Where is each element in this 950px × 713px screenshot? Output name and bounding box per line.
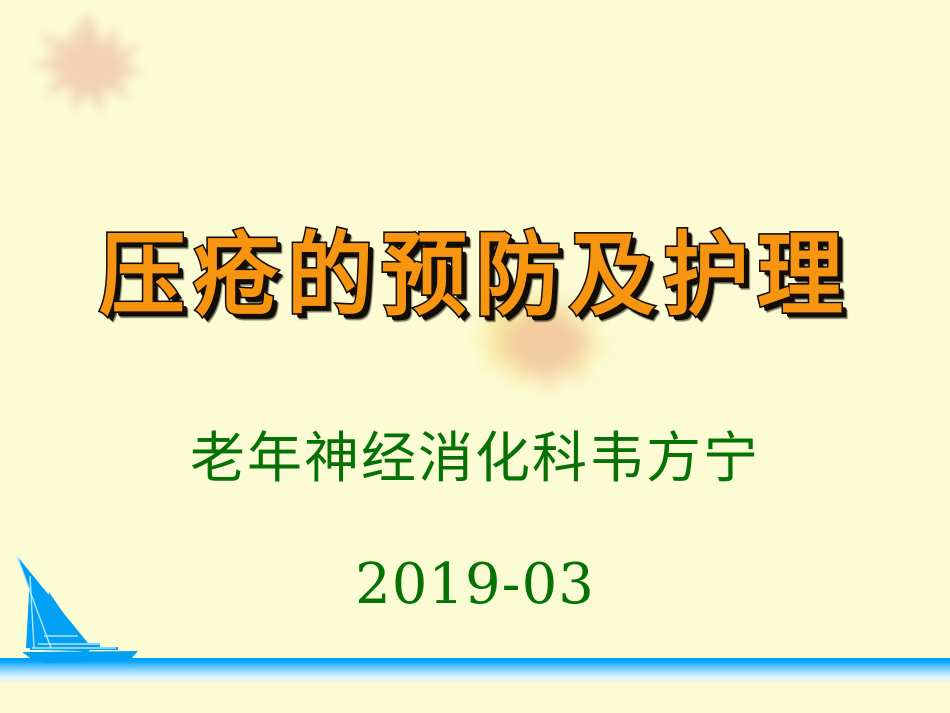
water-gradient-band bbox=[0, 658, 950, 684]
presentation-date: 2019-03 bbox=[355, 552, 595, 617]
presentation-slide: 压疮的预防及护理 老年神经消化科韦方宁 2019-03 bbox=[0, 0, 950, 713]
subtitle-block: 老年神经消化科韦方宁 bbox=[0, 428, 950, 490]
page-title: 压疮的预防及护理 bbox=[99, 228, 851, 324]
presenter-subtitle: 老年神经消化科韦方宁 bbox=[190, 426, 760, 490]
title-block: 压疮的预防及护理 bbox=[0, 228, 950, 318]
maple-leaf-watermark-icon bbox=[22, 2, 152, 122]
date-block: 2019-03 bbox=[0, 552, 950, 617]
